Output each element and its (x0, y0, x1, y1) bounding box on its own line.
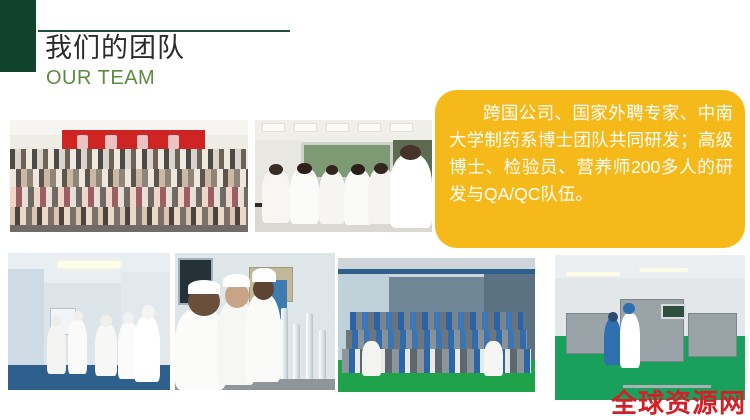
site-watermark: 全球资源网 (611, 388, 746, 418)
photo-team-group: 公司全体员工合影 — 红色背景墙前的大合照 (10, 120, 248, 232)
photo-factory-group: 生产车间全体员工合影 — 绿色地面 (338, 258, 535, 392)
page-title-cn: 我们的团队 (45, 31, 185, 65)
page-title-en: OUR TEAM (46, 66, 155, 90)
photo-packaging-line: 灌装包装生产线 — 洁净车间设备 (555, 255, 745, 400)
slide-canvas: 我们的团队 OUR TEAM 公司全体员工合影 — 红色背景墙前的大合照 (0, 0, 750, 420)
highlight-callout: 跨国公司、国家外聘专家、中南大学制药系博士团队共同研发；高级博士、检验员、营养师… (435, 90, 745, 248)
photo-qc-testing: 化验室 — 技术员操作玻璃仪器 (175, 253, 335, 390)
photo-cleanroom-corridor: 洁净车间走廊 — 白大褂人员参观 (8, 253, 170, 390)
callout-text: 跨国公司、国家外聘专家、中南大学制药系博士团队共同研发；高级博士、检验员、营养师… (449, 100, 733, 208)
photo-lab-staff: 实验室白大褂团队 — 技术人员交流 (255, 120, 432, 232)
header-corner-block (0, 0, 36, 72)
